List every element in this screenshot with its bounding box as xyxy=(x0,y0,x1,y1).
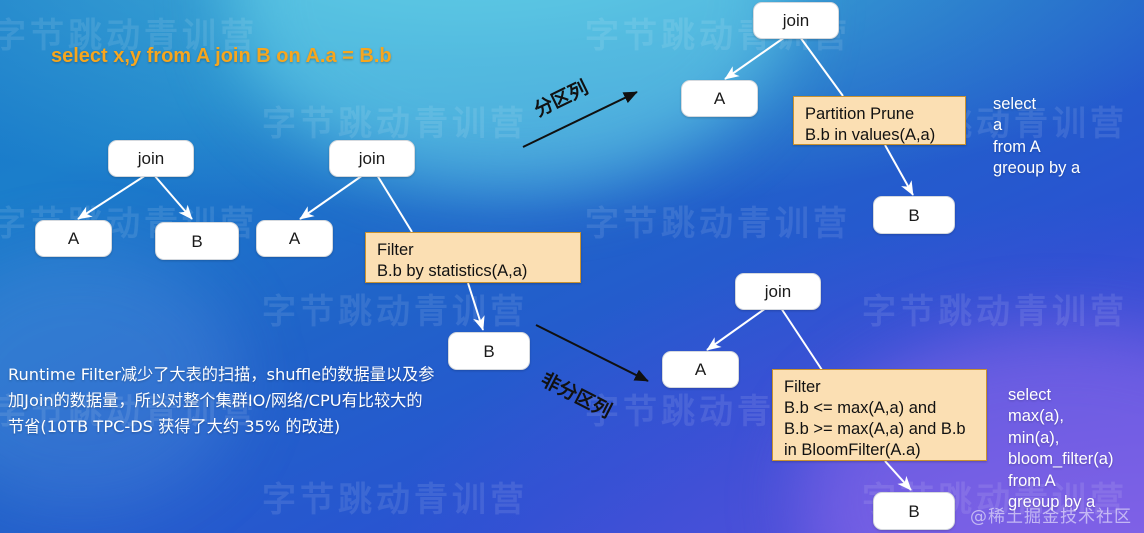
slide-canvas: 字节跳动青训营 字节跳动青训营 字节跳动青训营 字节跳动青训营 字节跳动青训营 … xyxy=(0,0,1144,533)
plan-node-a[interactable]: A xyxy=(35,220,112,257)
filter-statistics-box[interactable]: Filter B.b by statistics(A,a) xyxy=(365,232,581,283)
plan-node-join[interactable]: join xyxy=(753,2,839,39)
plan-node-a[interactable]: A xyxy=(681,80,758,117)
plan-node-a[interactable]: A xyxy=(256,220,333,257)
plan-node-label: B xyxy=(483,343,494,360)
plan-node-label: join xyxy=(765,283,791,300)
plan-node-label: B xyxy=(908,503,919,520)
plan-node-label: A xyxy=(68,230,79,247)
plan-node-b[interactable]: B xyxy=(873,492,955,530)
plan-node-b[interactable]: B xyxy=(873,196,955,234)
plan-node-b[interactable]: B xyxy=(448,332,530,370)
plan-node-label: A xyxy=(289,230,300,247)
plan-node-label: join xyxy=(359,150,385,167)
plan-node-join[interactable]: join xyxy=(108,140,194,177)
watermark-corner: @稀土掘金技术社区 xyxy=(970,502,1132,527)
plan-node-join[interactable]: join xyxy=(329,140,415,177)
plan-node-join[interactable]: join xyxy=(735,273,821,310)
bloom-filter-box[interactable]: Filter B.b <= max(A,a) and B.b >= max(A,… xyxy=(772,369,987,461)
plan-node-b[interactable]: B xyxy=(155,222,239,260)
plan-node-label: join xyxy=(783,12,809,29)
plan-node-label: join xyxy=(138,150,164,167)
plan-node-a[interactable]: A xyxy=(662,351,739,388)
sql-snippet-bloom: select max(a), min(a), bloom_filter(a) f… xyxy=(1008,385,1144,514)
plan-node-label: B xyxy=(908,207,919,224)
partition-prune-box[interactable]: Partition Prune B.b in values(A,a) xyxy=(793,96,966,145)
slide-title: select x,y from A join B on A.a = B.b xyxy=(51,45,392,68)
plan-node-label: B xyxy=(191,233,202,250)
plan-node-label: A xyxy=(714,90,725,107)
sql-snippet-partition: select a from A greoup by a xyxy=(993,94,1143,180)
description-paragraph: Runtime Filter减少了大表的扫描，shuffle的数据量以及参加Jo… xyxy=(8,362,438,441)
plan-node-label: A xyxy=(695,361,706,378)
